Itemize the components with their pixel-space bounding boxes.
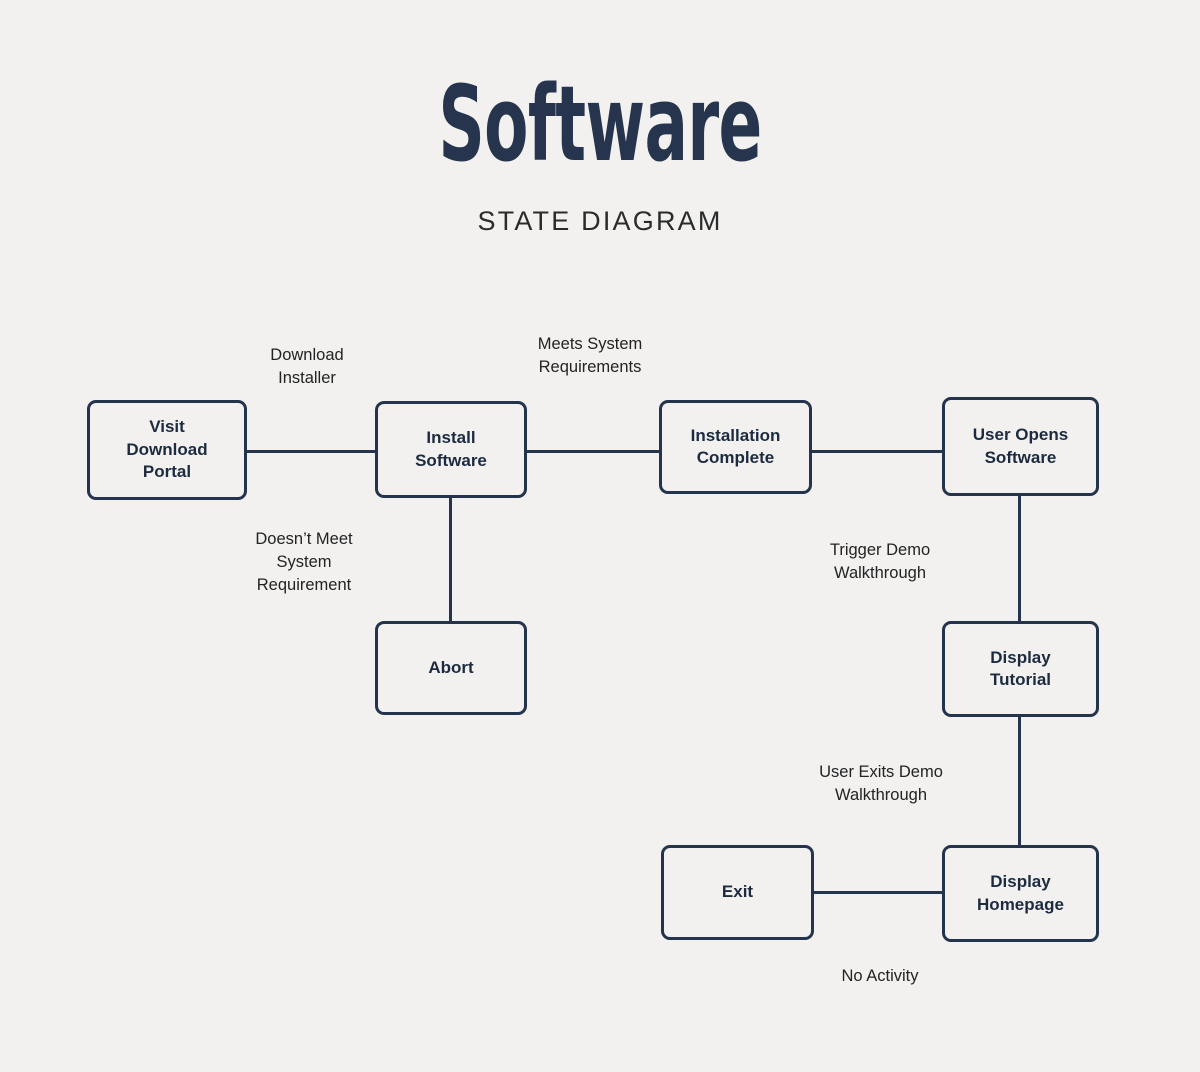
- node-user-opens-software[interactable]: User OpensSoftware: [942, 397, 1099, 496]
- edge-install-to-installation: [525, 450, 661, 453]
- edge-visit-to-install: [247, 450, 377, 453]
- transition-label-no-activity: No Activity: [780, 965, 980, 988]
- page-subtitle: STATE DIAGRAM: [0, 206, 1200, 237]
- node-label: VisitDownloadPortal: [126, 416, 207, 483]
- edge-homepage-to-exit: [812, 891, 944, 894]
- node-visit-download-portal[interactable]: VisitDownloadPortal: [87, 400, 247, 500]
- edge-user-opens-to-tutorial: [1018, 494, 1021, 623]
- node-install-software[interactable]: InstallSoftware: [375, 401, 527, 498]
- node-label: InstallationComplete: [691, 425, 781, 470]
- node-display-tutorial[interactable]: DisplayTutorial: [942, 621, 1099, 717]
- transition-label-user-exits-demo-walkthrough: User Exits DemoWalkthrough: [781, 761, 981, 807]
- transition-label-doesnt-meet-system-requirement: Doesn’t MeetSystemRequirement: [204, 528, 404, 596]
- transition-label-download-installer: DownloadInstaller: [207, 344, 407, 390]
- edge-install-to-abort: [449, 495, 452, 623]
- node-label: DisplayTutorial: [990, 647, 1051, 692]
- node-installation-complete[interactable]: InstallationComplete: [659, 400, 812, 494]
- diagram-canvas: Software STATE DIAGRAM VisitDownloadPort…: [0, 0, 1200, 1072]
- node-label: Exit: [722, 881, 753, 903]
- node-display-homepage[interactable]: DisplayHomepage: [942, 845, 1099, 942]
- transition-label-meets-system-requirements: Meets SystemRequirements: [490, 333, 690, 379]
- node-label: User OpensSoftware: [973, 424, 1068, 469]
- edge-installation-to-user-opens: [810, 450, 944, 453]
- transition-label-trigger-demo-walkthrough: Trigger DemoWalkthrough: [780, 539, 980, 585]
- node-abort[interactable]: Abort: [375, 621, 527, 715]
- node-exit[interactable]: Exit: [661, 845, 814, 940]
- node-label: DisplayHomepage: [977, 871, 1064, 916]
- node-label: InstallSoftware: [415, 427, 487, 472]
- page-title: Software: [228, 72, 972, 176]
- node-label: Abort: [428, 657, 473, 679]
- edge-tutorial-to-homepage: [1018, 715, 1021, 847]
